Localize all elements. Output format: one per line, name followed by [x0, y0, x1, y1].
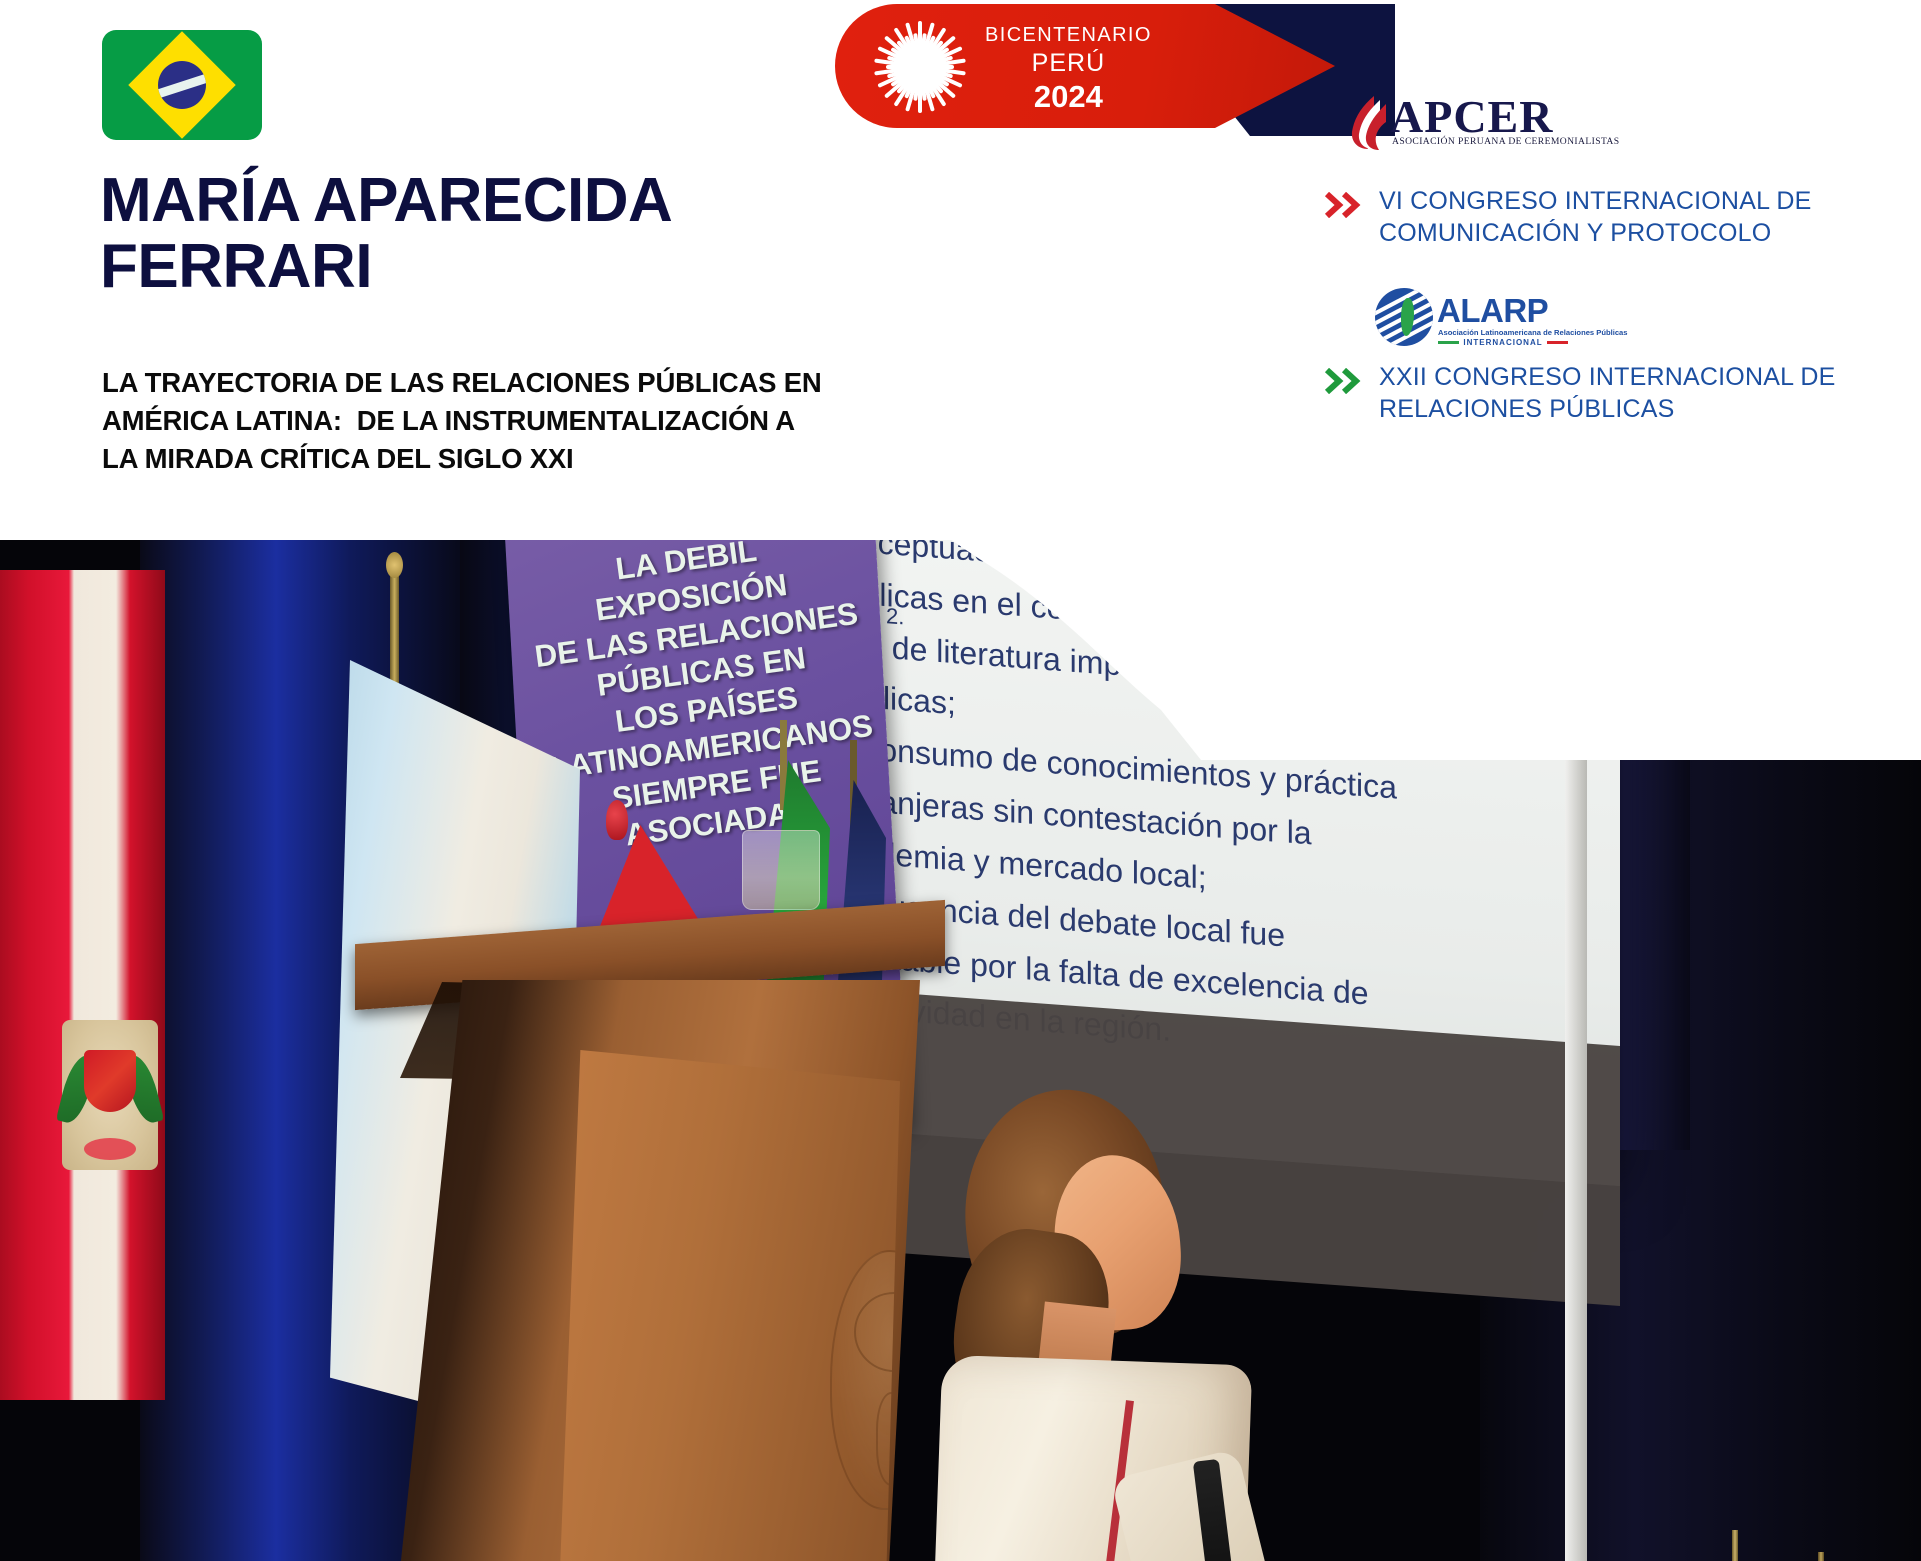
- speaker-name-line-2: FERRARI: [100, 234, 920, 300]
- alarp-wordmark: ALARP: [1437, 292, 1548, 330]
- flag-globe: [158, 61, 206, 109]
- congress-2-text: XXII CONGRESO INTERNACIONAL DE RELACIONE…: [1379, 362, 1836, 426]
- poster-root: MARÍA APARECIDA FERRARI LA TRAYECTORIA D…: [0, 0, 1921, 1561]
- alarp-tagline: INTERNACIONAL: [1463, 338, 1542, 347]
- alarp-subtitle: Asociación Latinoamericana de Relaciones…: [1438, 328, 1628, 337]
- apcer-subtitle: ASOCIACIÓN PERUANA DE CEREMONIALISTAS: [1392, 136, 1620, 147]
- flag-band: [158, 71, 206, 99]
- apcer-logo: APCER ASOCIACIÓN PERUANA DE CEREMONIALIS…: [1348, 92, 1548, 154]
- alarp-logo: ALARP Asociación Latinoamericana de Rela…: [1375, 288, 1565, 350]
- apcer-flame-icon: [1348, 94, 1392, 150]
- peru-coat-of-arms: [62, 1020, 158, 1170]
- congress-2-line-1: XXII CONGRESO INTERNACIONAL DE: [1379, 362, 1836, 394]
- alarp-globe-icon: [1375, 288, 1433, 346]
- podium-front-panel: [560, 1050, 900, 1561]
- congress-1-entry: VI CONGRESO INTERNACIONAL DE COMUNICACIÓ…: [1325, 186, 1812, 250]
- congress-2-entry: XXII CONGRESO INTERNACIONAL DE RELACIONE…: [1325, 362, 1836, 426]
- alarp-tagline-row: INTERNACIONAL: [1438, 338, 1568, 347]
- spain-flagpole: [1818, 1552, 1824, 1561]
- colombia-flagpole: [1732, 1530, 1738, 1561]
- double-chevron-right-icon: [1325, 362, 1365, 426]
- brazil-flag-icon: [102, 30, 262, 140]
- sunburst-icon: [865, 12, 975, 122]
- badge-line-1: BICENTENARIO: [985, 24, 1152, 47]
- water-glass: [742, 830, 820, 910]
- bolivia-pole-finial: [606, 800, 628, 840]
- argentina-pole-finial: [386, 552, 403, 578]
- speaker-name-line-1: MARÍA APARECIDA: [100, 168, 920, 234]
- congress-1-text: VI CONGRESO INTERNACIONAL DE COMUNICACIÓ…: [1379, 186, 1812, 250]
- congress-2-line-2: RELACIONES PÚBLICAS: [1379, 394, 1836, 426]
- badge-line-3: 2024: [985, 79, 1152, 115]
- talk-title-line-1: LA TRAYECTORIA DE LAS RELACIONES PÚBLICA…: [102, 364, 1032, 402]
- argentina-flagpole: [390, 566, 399, 696]
- double-chevron-right-icon: [1325, 186, 1365, 250]
- congress-1-line-1: VI CONGRESO INTERNACIONAL DE: [1379, 186, 1812, 218]
- peru-flag: [0, 570, 165, 1400]
- congress-1-line-2: COMUNICACIÓN Y PROTOCOLO: [1379, 218, 1812, 250]
- green-bar: [1438, 341, 1459, 344]
- badge-line-2: PERÚ: [985, 49, 1152, 78]
- bicentenario-badge: BICENTENARIO PERÚ 2024: [835, 4, 1395, 136]
- badge-text: BICENTENARIO PERÚ 2024: [985, 24, 1152, 115]
- red-bar: [1547, 341, 1568, 344]
- speaker-name: MARÍA APARECIDA FERRARI: [100, 168, 920, 301]
